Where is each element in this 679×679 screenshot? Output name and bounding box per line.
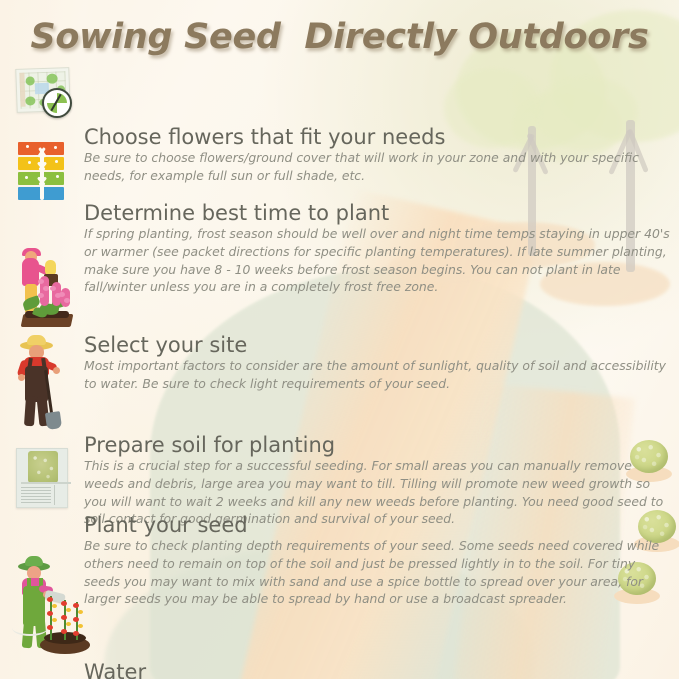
- gardener-watering-icon: [12, 556, 96, 661]
- step-choose-flowers: Choose flowers that fit your needs Be su…: [12, 64, 672, 126]
- step-prepare-soil: Prepare soil for planting This is a cruc…: [12, 334, 672, 434]
- step-select-site: Select your site Most important factors …: [12, 252, 672, 334]
- step-heading: Water: [84, 661, 672, 679]
- gardener-with-shovel-icon: [12, 334, 78, 434]
- step-heading: Determine best time to plant: [84, 202, 672, 224]
- page-title: Sowing Seed Directly Outdoors: [0, 17, 679, 57]
- four-seasons-icon: [12, 140, 74, 202]
- step-water: Water Be sure to keep seed moist using a…: [12, 556, 672, 661]
- garden-plan-compass-icon: [12, 64, 74, 126]
- infographic-poster: Sowing Seed Directly Outdoors Choose flo…: [0, 0, 679, 679]
- step-heading: Plant your seed: [84, 514, 672, 536]
- seed-packet-icon: [12, 444, 74, 514]
- step-plant-seed: Plant your seed Be sure to check plantin…: [12, 444, 672, 514]
- planting-flowers-icon: [12, 252, 78, 334]
- poster-content: Sowing Seed Directly Outdoors Choose flo…: [0, 0, 679, 679]
- step-determine-time: Determine best time to plant If spring p…: [12, 140, 672, 202]
